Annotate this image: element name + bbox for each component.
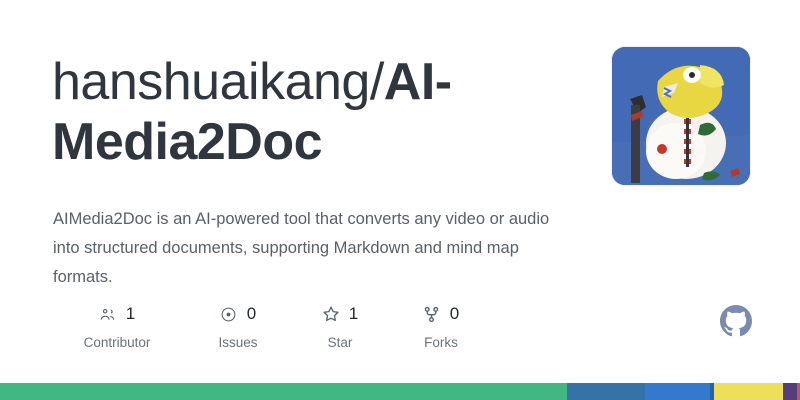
repository-card: hanshuaikang/AI-Media2Doc: [0, 0, 800, 400]
stat-label: Star: [328, 335, 353, 350]
stat-value: 0: [450, 305, 459, 323]
page-title: hanshuaikang/AI-Media2Doc: [52, 52, 597, 172]
stat-stars[interactable]: 1 Star: [294, 302, 386, 350]
stat-label: Issues: [218, 335, 257, 350]
stat-top: 1: [322, 302, 358, 326]
stat-value: 1: [349, 305, 358, 323]
stat-top: 0: [423, 302, 459, 326]
issue-opened-icon: [220, 305, 238, 323]
language-segment-css: [783, 383, 797, 400]
language-segment-javascript-blue: [645, 383, 710, 400]
stat-label: Contributor: [84, 335, 151, 350]
star-icon: [322, 305, 340, 323]
people-icon: [99, 305, 117, 323]
language-segment-python: [567, 383, 645, 400]
language-segment-javascript: [714, 383, 783, 400]
language-bar: [0, 383, 800, 400]
repo-stats: 1 Contributor 0 Issues: [52, 302, 512, 350]
stat-label: Forks: [424, 335, 458, 350]
stat-top: 0: [220, 302, 256, 326]
repo-header: hanshuaikang/AI-Media2Doc: [52, 52, 597, 172]
stat-contributors[interactable]: 1 Contributor: [52, 302, 182, 350]
avatar[interactable]: [612, 47, 750, 185]
stat-issues[interactable]: 0 Issues: [182, 302, 294, 350]
repo-description: AIMedia2Doc is an AI-powered tool that c…: [53, 205, 553, 292]
stat-value: 0: [247, 305, 256, 323]
github-mark-icon[interactable]: [720, 305, 752, 337]
repo-owner[interactable]: hanshuaikang/: [52, 53, 384, 111]
language-segment-vue: [0, 383, 567, 400]
stat-value: 1: [126, 305, 135, 323]
fork-icon: [423, 305, 441, 323]
stat-top: 1: [99, 302, 135, 326]
stat-forks[interactable]: 0 Forks: [386, 302, 496, 350]
